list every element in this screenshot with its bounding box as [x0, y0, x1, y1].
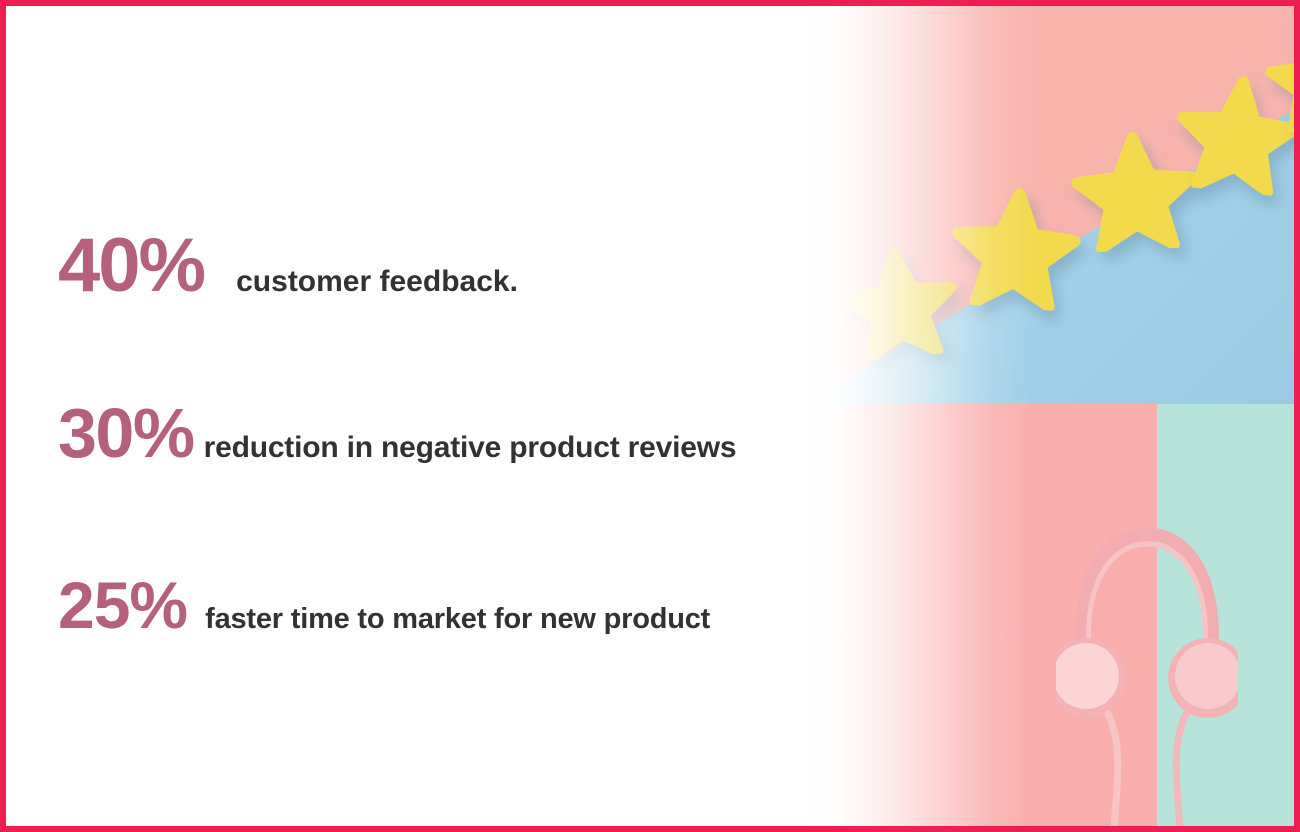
stat-label: faster time to market for new product	[205, 605, 710, 634]
media-column	[804, 6, 1294, 826]
stat-row: 25% faster time to market for new produc…	[58, 572, 710, 638]
stars-photo	[804, 6, 1294, 404]
headphones-icon	[1056, 500, 1238, 830]
headphones-photo	[804, 404, 1294, 832]
stat-value: 30%	[58, 398, 194, 468]
star-icon	[834, 240, 963, 364]
stat-row: 30% reduction in negative product review…	[58, 398, 736, 468]
stat-value: 40%	[58, 228, 204, 304]
slide-canvas: 40% customer feedback. 30% reduction in …	[0, 0, 1300, 832]
stats-column: 40% customer feedback. 30% reduction in …	[6, 6, 816, 826]
stat-row: 40% customer feedback.	[58, 228, 518, 304]
stat-label: customer feedback.	[236, 267, 518, 297]
star-icon	[948, 182, 1084, 313]
stat-value: 25%	[58, 572, 187, 638]
stat-label: reduction in negative product reviews	[204, 433, 737, 463]
